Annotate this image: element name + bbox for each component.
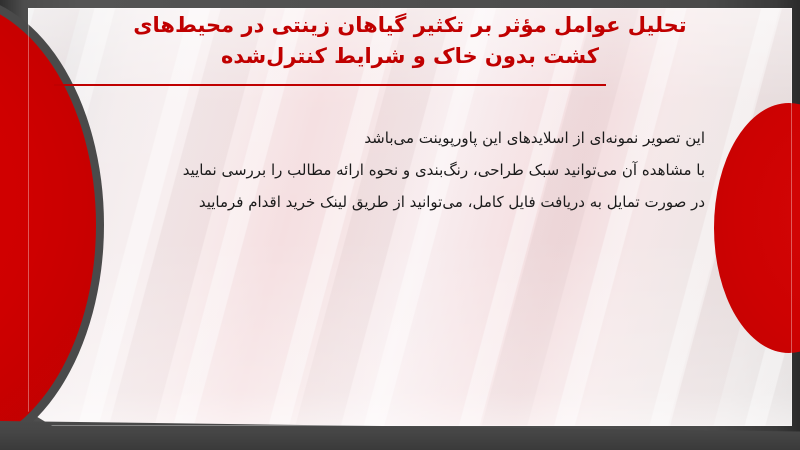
slide-title: تحلیل عوامل مؤثر بر تکثیر گیاهان زینتی د… [40, 10, 780, 72]
slide-title-line-2: کشت بدون خاک و شرایط کنترل‌شده [40, 41, 780, 72]
body-line-1: این تصویر نمونه‌ای از اسلایدهای این پاور… [85, 122, 705, 154]
presentation-slide: تحلیل عوامل مؤثر بر تکثیر گیاهان زینتی د… [0, 0, 800, 450]
title-underline-rule [54, 84, 606, 86]
body-line-3: در صورت تمایل به دریافت فایل کامل، می‌تو… [85, 186, 705, 218]
body-line-2: با مشاهده آن می‌توانید سبک طراحی، رنگ‌بن… [85, 154, 705, 186]
slide-body-text: این تصویر نمونه‌ای از اسلایدهای این پاور… [85, 122, 705, 218]
slide-title-line-1: تحلیل عوامل مؤثر بر تکثیر گیاهان زینتی د… [40, 10, 780, 41]
